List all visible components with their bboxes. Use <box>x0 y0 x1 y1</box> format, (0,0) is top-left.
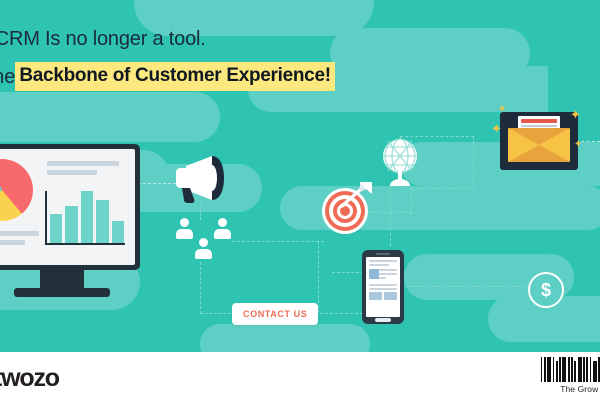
smartphone-icon <box>362 250 404 324</box>
barcode-bar <box>578 357 582 382</box>
connector-line <box>473 136 474 188</box>
phone-screen <box>366 257 400 317</box>
connector-line <box>200 262 201 314</box>
screen-text-lines-bottom <box>0 231 39 249</box>
person-body <box>195 249 212 259</box>
bar-chart-bar <box>81 191 93 243</box>
connector-line <box>318 241 319 313</box>
person-head <box>199 238 208 247</box>
screen-text-line <box>47 161 119 166</box>
phone-tile-row <box>369 292 397 300</box>
sparkle-icon: ✦ <box>498 105 506 115</box>
dollar-coin-icon: $ <box>528 272 564 308</box>
headline: ur CRM Is no longer a tool. s the Backbo… <box>0 26 335 91</box>
person-head <box>218 218 227 227</box>
connector-line <box>411 188 412 214</box>
barcode-bar <box>586 357 588 382</box>
dashboard-monitor-icon <box>0 144 140 297</box>
person-icon <box>176 218 193 239</box>
sparkle-icon: ✦ <box>570 108 581 121</box>
banner-canvas: ur CRM Is no longer a tool. s the Backbo… <box>0 0 600 400</box>
headline-line-2: s the Backbone of Customer Experience! <box>0 62 335 91</box>
barcode-icon <box>541 357 600 382</box>
megaphone-icon <box>172 152 230 204</box>
screen-text-line <box>0 231 39 236</box>
globe-icon <box>378 136 422 188</box>
monitor-neck <box>40 270 84 288</box>
barcode-bar <box>559 357 561 382</box>
monitor-screen <box>0 149 135 265</box>
connector-line <box>390 186 391 246</box>
headline-line-1: ur CRM Is no longer a tool. <box>0 26 335 52</box>
barcode-bar <box>562 357 566 382</box>
barcode-bar <box>556 361 558 382</box>
phone-content-line <box>369 264 389 266</box>
screen-text-line <box>47 170 97 175</box>
connector-line <box>200 313 236 314</box>
letter-line <box>521 125 557 127</box>
barcode-bar <box>593 361 597 382</box>
connector-line <box>332 272 364 273</box>
bar-chart-bar <box>96 200 108 243</box>
dollar-symbol: $ <box>541 281 551 299</box>
background-blob <box>0 92 220 142</box>
person-body <box>176 229 193 239</box>
dart-icon <box>340 180 374 210</box>
headline-line-2-prefix: s the <box>0 65 15 89</box>
barcode-bar <box>590 357 592 382</box>
bar-chart-bar <box>112 221 124 243</box>
target-dart-icon <box>322 188 368 234</box>
barcode-bar <box>583 357 585 382</box>
person-body <box>214 229 231 239</box>
barcode-bar <box>553 357 555 382</box>
connector-line <box>402 286 530 287</box>
pie-chart <box>0 159 33 221</box>
barcode-bar <box>541 357 543 382</box>
barcode-bar <box>568 357 570 382</box>
connector-line <box>138 183 176 184</box>
person-icon <box>195 238 212 259</box>
phone-content-line <box>369 284 397 286</box>
connector-line <box>364 212 412 213</box>
monitor-base <box>14 288 110 297</box>
bar-chart-x-axis <box>45 243 125 245</box>
phone-speaker <box>376 253 390 255</box>
envelope-flap-right <box>539 128 570 162</box>
monitor-body <box>0 144 140 270</box>
bar-chart-bars <box>50 191 124 243</box>
phone-home-button <box>375 318 391 322</box>
headline-highlight: Backbone of Customer Experience! <box>15 62 334 91</box>
person-head <box>180 218 189 227</box>
bar-chart <box>45 191 125 245</box>
phone-avatar <box>369 269 379 279</box>
footer-bar: twozo The Grow <box>0 352 600 400</box>
connector-line <box>411 188 471 189</box>
barcode-bar <box>544 357 546 382</box>
barcode-bar <box>547 357 551 382</box>
contact-us-button[interactable]: CONTACT US <box>232 303 318 325</box>
phone-body <box>362 250 404 324</box>
letter-header-bar <box>521 119 557 123</box>
envelope-flap-left <box>508 128 539 162</box>
phone-content-line <box>369 288 397 290</box>
screen-text-line <box>0 240 25 245</box>
users-group-icon <box>176 218 232 262</box>
twozo-logo[interactable]: twozo <box>0 364 59 393</box>
partner-tagline: The Grow <box>541 384 600 394</box>
connector-line <box>232 241 324 242</box>
sparkle-icon: ✦ <box>574 140 582 150</box>
bar-chart-y-axis <box>45 191 47 245</box>
email-envelope-icon: ✦ ✦ ✦ ✦ <box>500 112 578 170</box>
person-icon <box>214 218 231 239</box>
coin-ring: $ <box>528 272 564 308</box>
phone-content-line <box>369 260 397 262</box>
barcode-bar <box>571 357 573 382</box>
partner-logo[interactable]: The Grow <box>541 357 600 394</box>
barcode-bar <box>574 361 576 382</box>
bar-chart-bar <box>65 206 77 243</box>
sparkle-icon: ✦ <box>491 122 502 135</box>
screen-text-lines-top <box>47 161 119 179</box>
bar-chart-bar <box>50 214 62 243</box>
